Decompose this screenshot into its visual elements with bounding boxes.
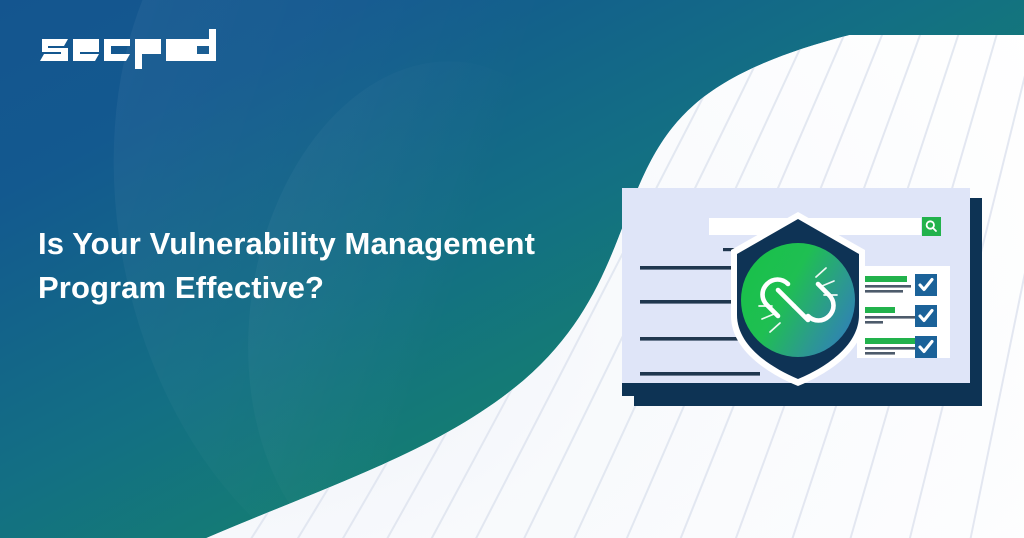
row-line-2: [865, 352, 895, 355]
row-line-1: [865, 316, 915, 319]
content-line-4: [640, 372, 760, 376]
row-title-bar: [865, 276, 907, 282]
search-button: [922, 217, 941, 236]
page-title: Is Your Vulnerability Management Program…: [38, 222, 568, 310]
row-line-2: [865, 290, 903, 293]
row-line-1: [865, 285, 911, 288]
banner-root: Is Your Vulnerability Management Program…: [0, 0, 1024, 538]
row-line-2: [865, 321, 883, 324]
shield-circle: [741, 243, 855, 357]
secpod-wordmark-icon: [40, 29, 216, 69]
row-line-1: [865, 347, 915, 350]
row-title-bar: [865, 307, 895, 313]
row-title-bar: [865, 338, 915, 344]
secpod-logo[interactable]: [38, 28, 218, 70]
vulnerability-scan-illustration: [612, 180, 992, 420]
